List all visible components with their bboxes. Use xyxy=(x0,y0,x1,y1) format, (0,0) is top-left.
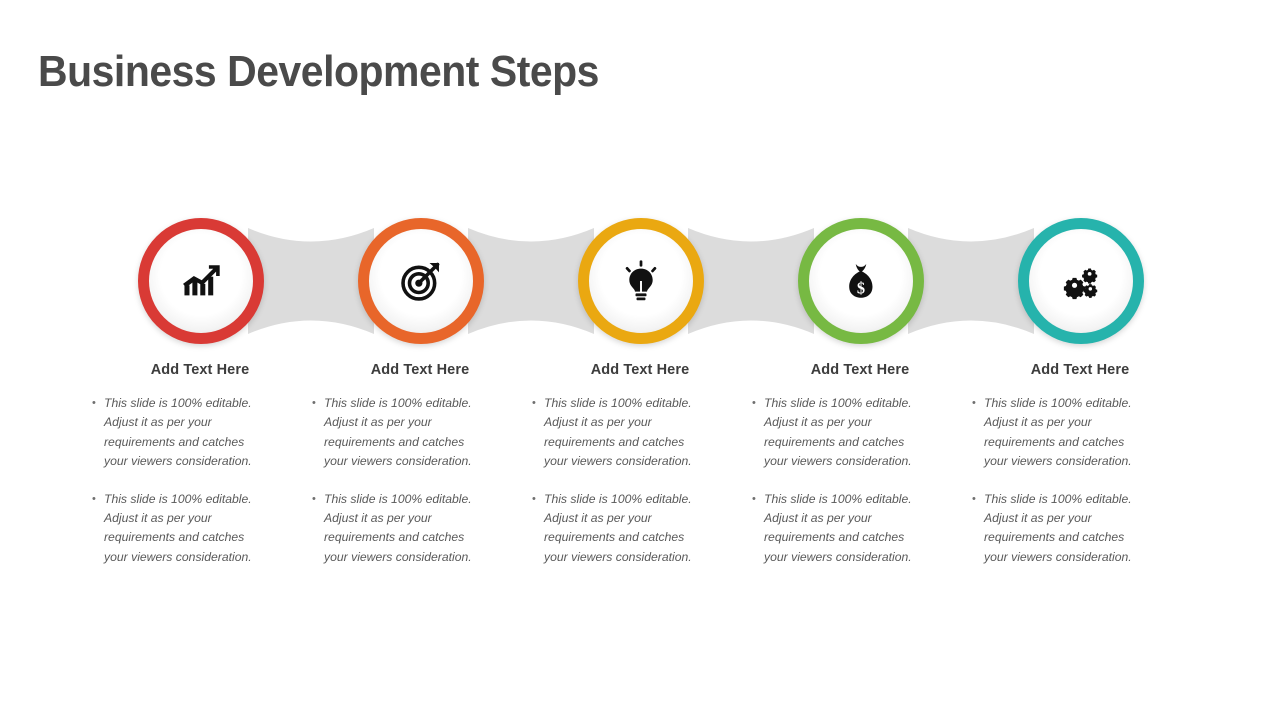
steps-diagram: $ xyxy=(0,0,1280,720)
bullet-text: This slide is 100% editable. Adjust it a… xyxy=(544,490,702,568)
bullet-text: This slide is 100% editable. Adjust it a… xyxy=(104,490,262,568)
bullet-text: This slide is 100% editable. Adjust it a… xyxy=(324,490,482,568)
step-heading-3: Add Text Here xyxy=(530,362,750,378)
target-arrow-icon xyxy=(395,255,447,307)
list-item: • This slide is 100% editable. Adjust it… xyxy=(970,490,1190,568)
list-item: • This slide is 100% editable. Adjust it… xyxy=(750,490,970,568)
list-item: • This slide is 100% editable. Adjust it… xyxy=(970,394,1190,472)
bullet-marker-icon: • xyxy=(750,394,764,413)
step-circles-row: $ xyxy=(90,218,1190,346)
bullet-text: This slide is 100% editable. Adjust it a… xyxy=(984,394,1142,472)
list-item: • This slide is 100% editable. Adjust it… xyxy=(310,490,530,568)
step-heading-1: Add Text Here xyxy=(90,362,310,378)
step-column-4: Add Text Here • This slide is 100% edita… xyxy=(750,362,970,585)
step-column-3: Add Text Here • This slide is 100% edita… xyxy=(530,362,750,585)
step-circle-5[interactable] xyxy=(1018,218,1144,344)
step-circle-1[interactable] xyxy=(138,218,264,344)
bullet-text: This slide is 100% editable. Adjust it a… xyxy=(544,394,702,472)
bullet-text: This slide is 100% editable. Adjust it a… xyxy=(764,394,922,472)
bullet-marker-icon: • xyxy=(90,394,104,413)
svg-text:$: $ xyxy=(857,278,865,297)
list-item: • This slide is 100% editable. Adjust it… xyxy=(530,490,750,568)
list-item: • This slide is 100% editable. Adjust it… xyxy=(90,490,310,568)
bullet-marker-icon: • xyxy=(750,490,764,509)
step-circle-2[interactable] xyxy=(358,218,484,344)
bullet-marker-icon: • xyxy=(310,490,324,509)
bullet-text: This slide is 100% editable. Adjust it a… xyxy=(984,490,1142,568)
step-heading-4: Add Text Here xyxy=(750,362,970,378)
bullet-marker-icon: • xyxy=(530,394,544,413)
money-bag-icon: $ xyxy=(835,255,887,307)
step-bullets-2: • This slide is 100% editable. Adjust it… xyxy=(310,394,530,567)
step-bullets-5: • This slide is 100% editable. Adjust it… xyxy=(970,394,1190,567)
step-bullets-3: • This slide is 100% editable. Adjust it… xyxy=(530,394,750,567)
bullet-marker-icon: • xyxy=(530,490,544,509)
step-column-5: Add Text Here • This slide is 100% edita… xyxy=(970,362,1190,585)
growth-chart-icon xyxy=(175,255,227,307)
bullet-marker-icon: • xyxy=(90,490,104,509)
step-column-2: Add Text Here • This slide is 100% edita… xyxy=(310,362,530,585)
step-heading-2: Add Text Here xyxy=(310,362,530,378)
lightbulb-icon xyxy=(615,255,667,307)
step-circle-4[interactable]: $ xyxy=(798,218,924,344)
step-text-columns: Add Text Here • This slide is 100% edita… xyxy=(0,362,1280,642)
step-circle-3[interactable] xyxy=(578,218,704,344)
gears-icon xyxy=(1055,255,1107,307)
bullet-text: This slide is 100% editable. Adjust it a… xyxy=(764,490,922,568)
step-heading-5: Add Text Here xyxy=(970,362,1190,378)
list-item: • This slide is 100% editable. Adjust it… xyxy=(310,394,530,472)
list-item: • This slide is 100% editable. Adjust it… xyxy=(530,394,750,472)
bullet-text: This slide is 100% editable. Adjust it a… xyxy=(104,394,262,472)
bullet-marker-icon: • xyxy=(970,394,984,413)
step-column-1: Add Text Here • This slide is 100% edita… xyxy=(90,362,310,585)
list-item: • This slide is 100% editable. Adjust it… xyxy=(90,394,310,472)
step-bullets-1: • This slide is 100% editable. Adjust it… xyxy=(90,394,310,567)
step-bullets-4: • This slide is 100% editable. Adjust it… xyxy=(750,394,970,567)
bullet-marker-icon: • xyxy=(970,490,984,509)
list-item: • This slide is 100% editable. Adjust it… xyxy=(750,394,970,472)
bullet-marker-icon: • xyxy=(310,394,324,413)
bullet-text: This slide is 100% editable. Adjust it a… xyxy=(324,394,482,472)
